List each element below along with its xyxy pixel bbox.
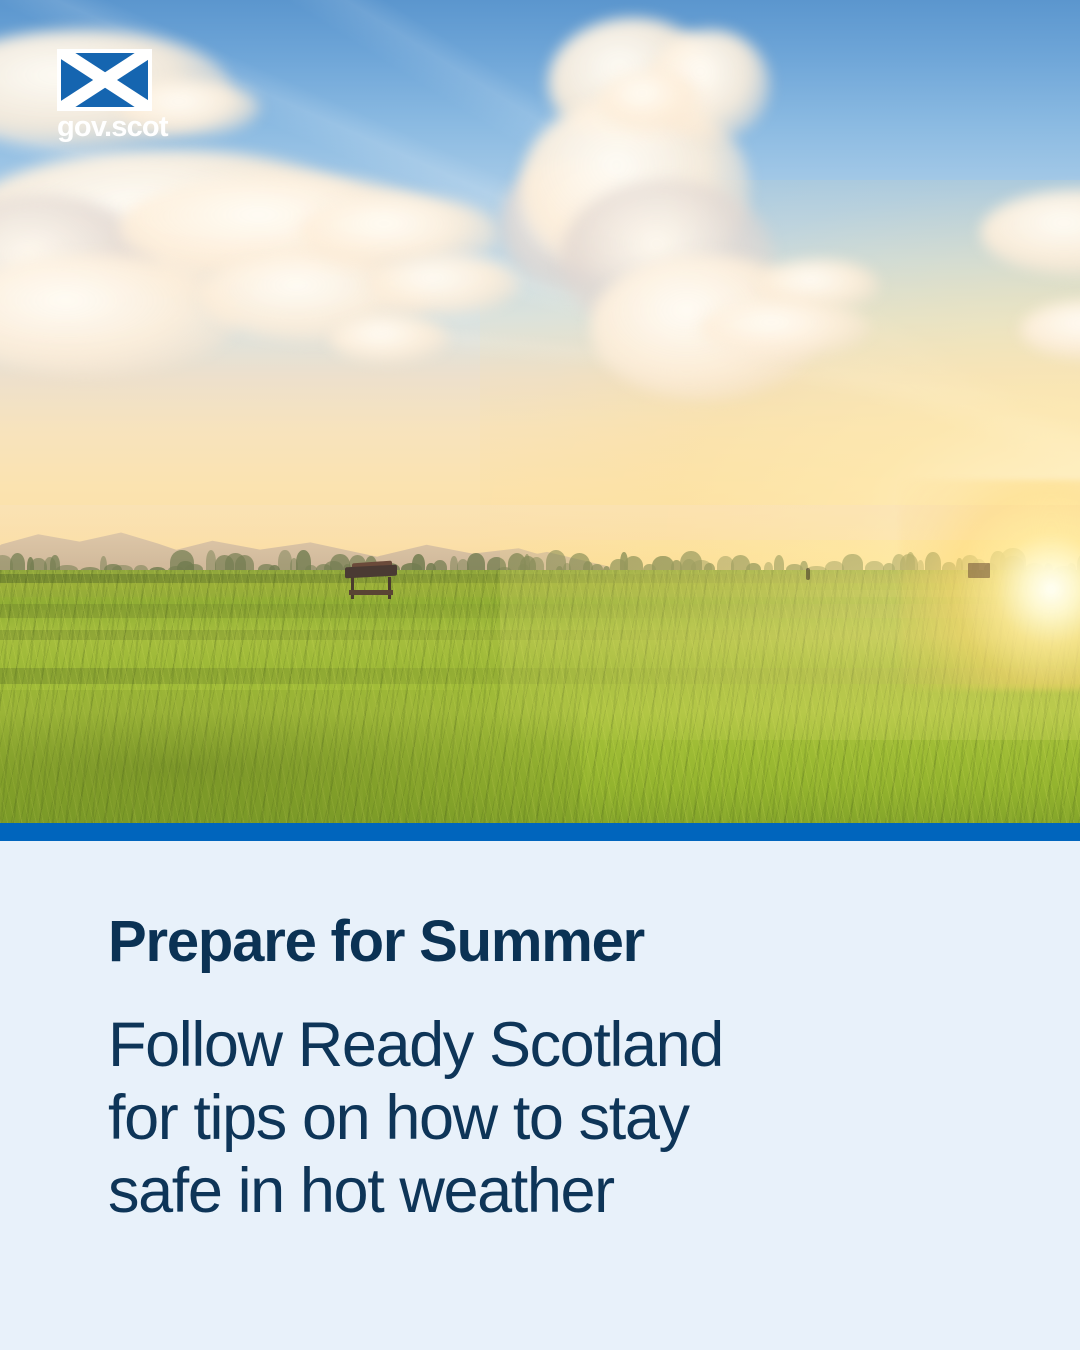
hero-photo: gov.scot: [0, 0, 1080, 823]
subheadline: Follow Ready Scotland for tips on how to…: [108, 1009, 808, 1228]
subheadline-line-1: Follow Ready Scotland: [108, 1009, 808, 1082]
brand-divider-bar: [0, 823, 1080, 841]
distant-figure: [806, 568, 810, 580]
campaign-poster: gov.scot Prepare for Summer Follow Ready…: [0, 0, 1080, 1350]
distant-shed: [968, 563, 990, 578]
cloud: [600, 70, 700, 130]
cloud: [330, 315, 450, 363]
cloud: [700, 300, 870, 358]
subheadline-line-3: safe in hot weather: [108, 1155, 808, 1228]
logo-wordmark: gov.scot: [57, 113, 168, 142]
setting-sun: [900, 480, 1080, 690]
message-panel: Prepare for Summer Follow Ready Scotland…: [0, 841, 1080, 1350]
saltire-flag-icon: [57, 49, 152, 111]
subheadline-line-2: for tips on how to stay: [108, 1082, 808, 1155]
cloud: [370, 255, 520, 315]
page-title: Prepare for Summer: [108, 913, 1008, 971]
gov-scot-logo[interactable]: gov.scot: [57, 49, 168, 142]
